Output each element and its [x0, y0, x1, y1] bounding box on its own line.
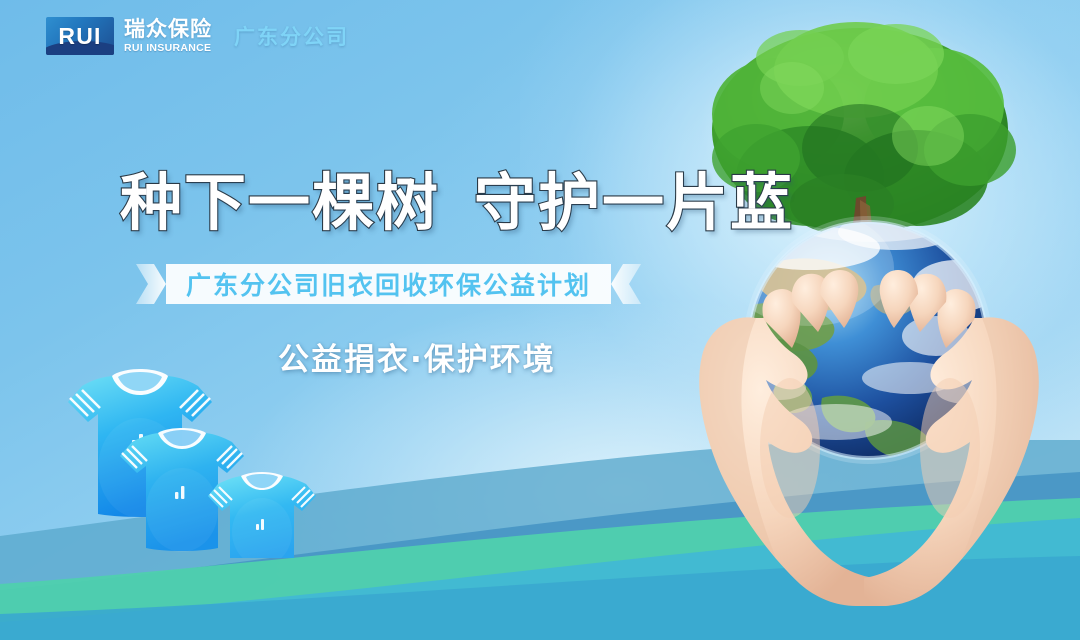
- headline-part-2: 守护一片蓝: [474, 166, 794, 239]
- donated-tshirts-illustration: [40, 368, 340, 558]
- tshirt-3: [208, 472, 316, 558]
- program-name-text: 广东分公司旧衣回收环保公益计划: [186, 266, 591, 302]
- headline-part-1: 种下一棵树: [120, 166, 440, 239]
- rui-logo-mark: RUI: [46, 17, 114, 55]
- promo-banner: RUI 瑞众保险 RUI INSURANCE 广东分公司 种下一棵树守护一片蓝 …: [0, 0, 1080, 640]
- tagline: 公益捐衣·保护环境: [278, 334, 556, 379]
- chevron-right-icon: [611, 264, 641, 304]
- brand-name-block: 瑞众保险 RUI INSURANCE: [124, 19, 212, 54]
- branch-name: 广东分公司: [234, 21, 349, 51]
- page-title: 种下一棵树守护一片蓝: [120, 152, 794, 242]
- brand-name-cn: 瑞众保险: [124, 19, 212, 40]
- logo-mark-text: RUI: [58, 23, 101, 50]
- tree-globe-hands-illustration: [660, 18, 1080, 618]
- brand-logo-row: RUI 瑞众保险 RUI INSURANCE 广东分公司: [46, 17, 349, 55]
- chevron-left-icon: [136, 264, 166, 304]
- brand-name-en: RUI INSURANCE: [124, 43, 212, 54]
- program-name-banner: 广东分公司旧衣回收环保公益计划: [136, 264, 641, 304]
- program-name-banner-body: 广东分公司旧衣回收环保公益计划: [166, 264, 611, 304]
